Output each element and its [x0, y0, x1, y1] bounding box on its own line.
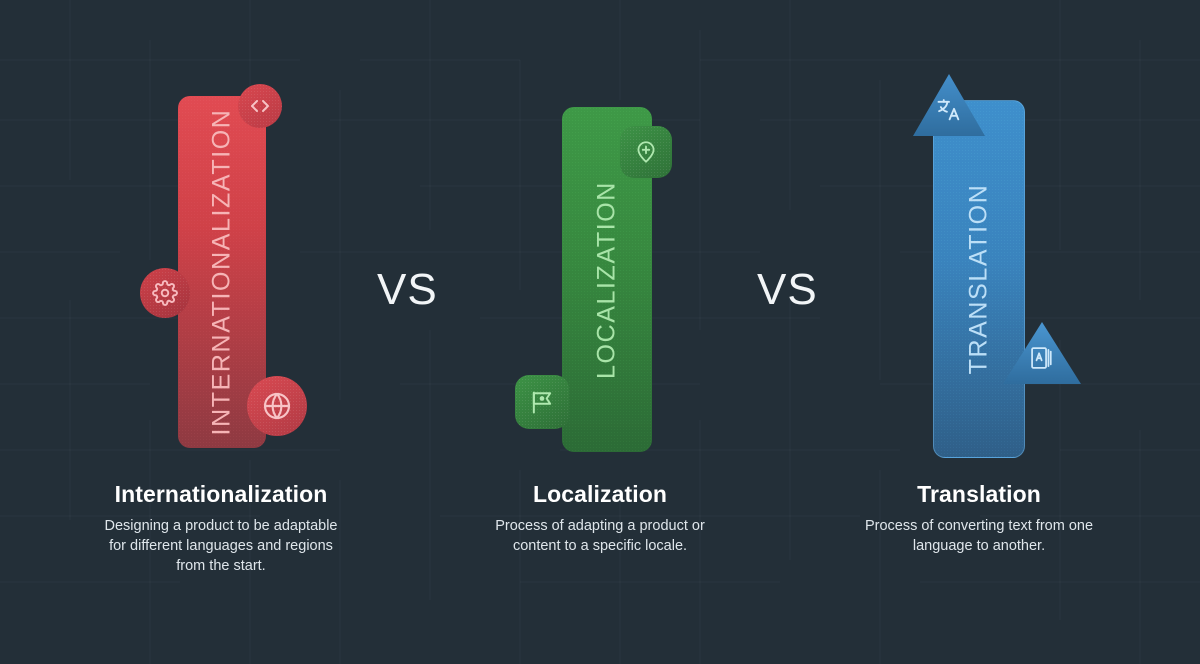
globe-icon[interactable]: [247, 376, 307, 436]
translation-description: Process of converting text from one lang…: [858, 516, 1100, 556]
caption-translation: Translation Process of converting text f…: [858, 481, 1100, 556]
vs-separator-1: VS: [377, 265, 438, 315]
internationalization-description: Designing a product to be adaptable for …: [96, 516, 346, 576]
code-brackets-icon[interactable]: [238, 84, 282, 128]
translation-title: Translation: [858, 481, 1100, 508]
localization-bar-label: LOCALIZATION: [593, 181, 622, 379]
localization-description: Process of adapting a product or content…: [480, 516, 720, 556]
caption-internationalization: Internationalization Designing a product…: [96, 481, 346, 576]
localization-title: Localization: [480, 481, 720, 508]
gear-icon[interactable]: [140, 268, 190, 318]
vs-separator-2: VS: [757, 265, 818, 315]
map-pin-plus-icon[interactable]: [620, 126, 672, 178]
translation-bar-label: TRANSLATION: [965, 184, 994, 375]
translation-bar[interactable]: TRANSLATION: [933, 100, 1025, 458]
infographic-stage: INTERNATIONALIZATION: [0, 0, 1200, 664]
caption-localization: Localization Process of adapting a produ…: [480, 481, 720, 556]
flag-icon[interactable]: [515, 375, 569, 429]
internationalization-bar-label: INTERNATIONALIZATION: [208, 109, 237, 436]
internationalization-title: Internationalization: [96, 481, 346, 508]
